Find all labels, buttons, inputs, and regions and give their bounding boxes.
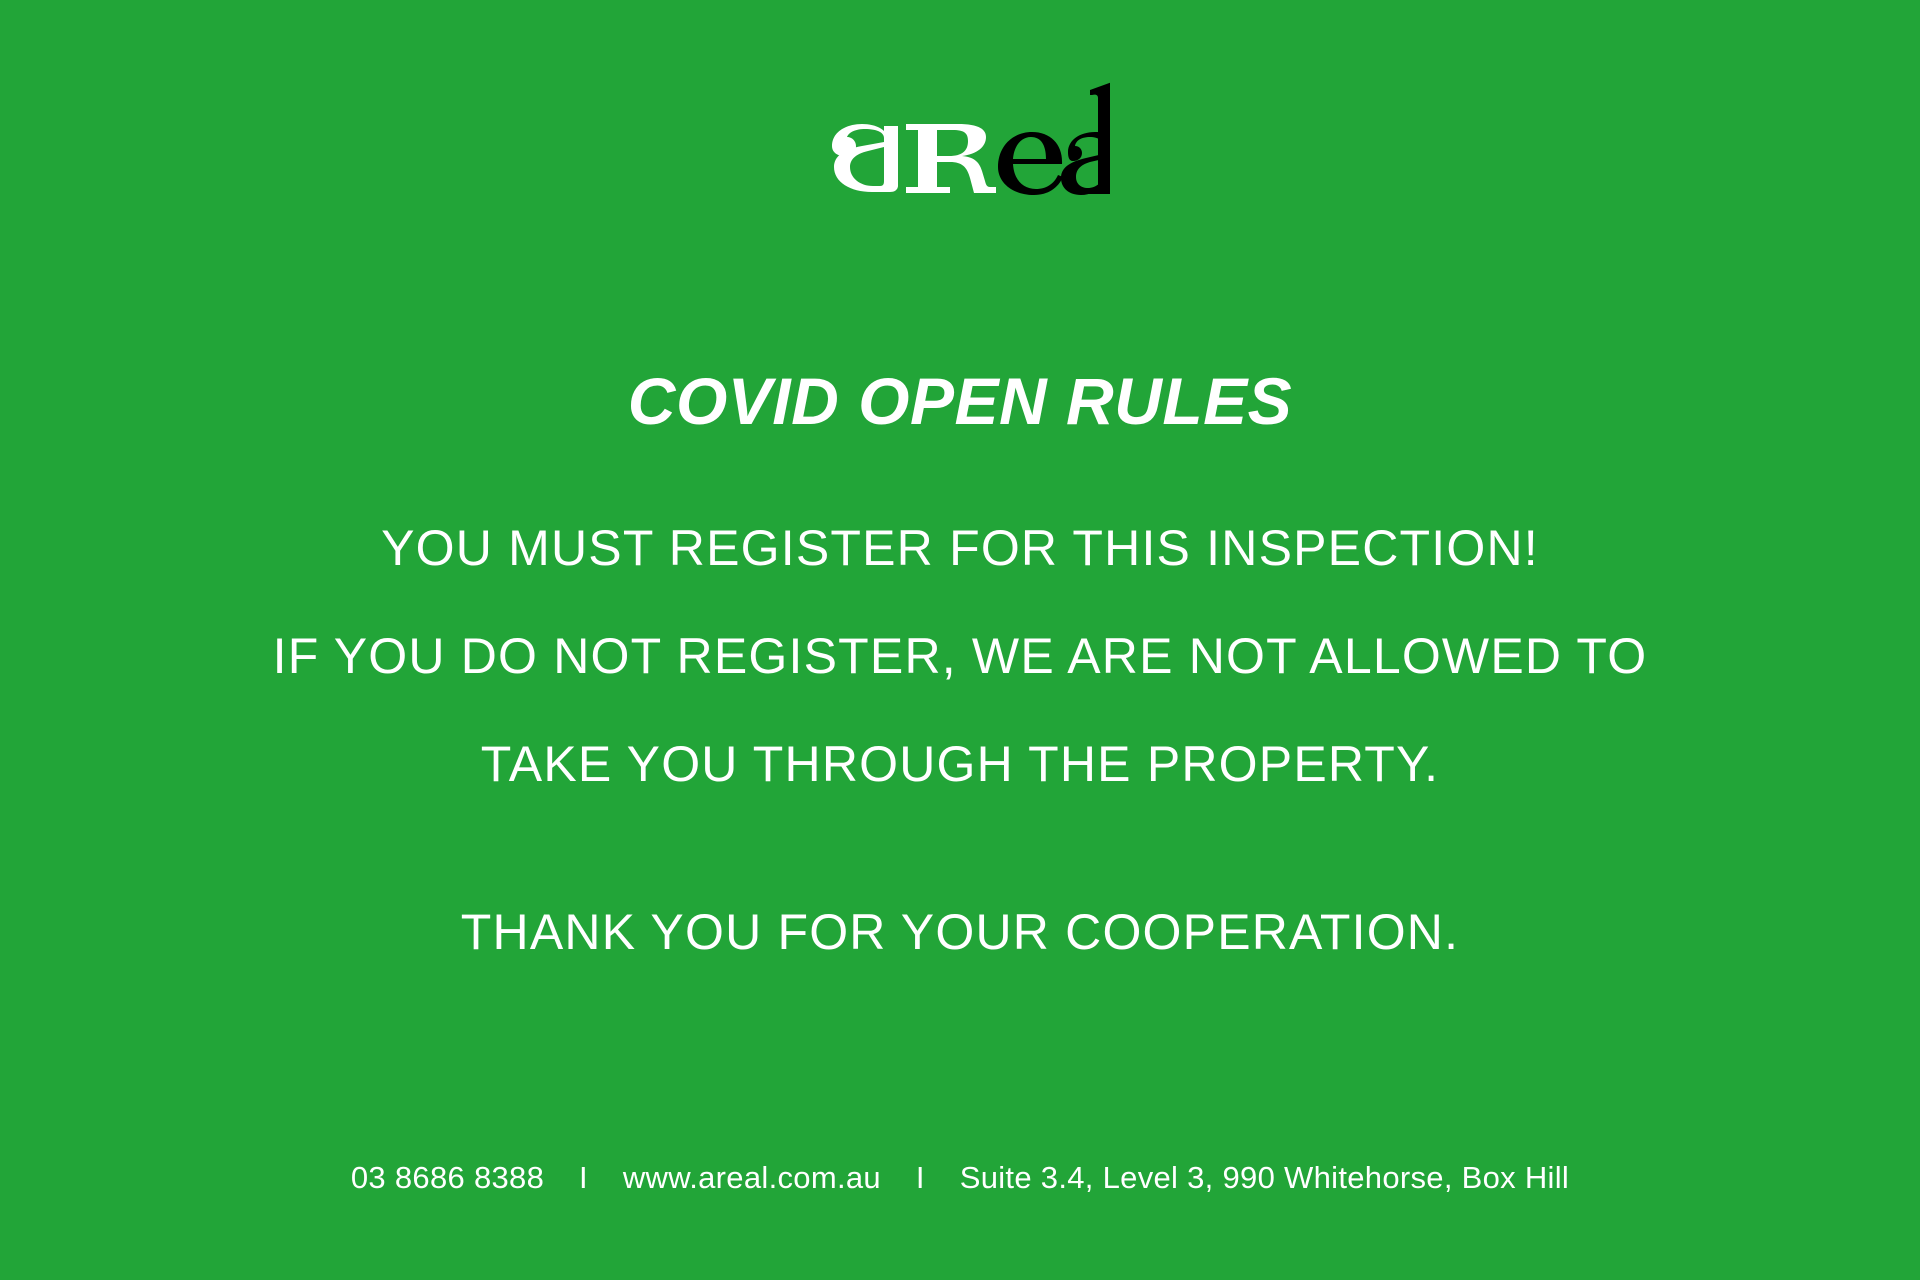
body-spacer <box>0 818 1920 878</box>
footer-separator-2: I <box>890 1160 951 1196</box>
footer-address: Suite 3.4, Level 3, 990 Whitehorse, Box … <box>960 1160 1569 1196</box>
body-line-2: IF YOU DO NOT REGISTER, WE ARE NOT ALLOW… <box>0 602 1920 710</box>
body-closing-line: THANK YOU FOR YOUR COOPERATION. <box>0 878 1920 986</box>
body-copy: YOU MUST REGISTER FOR THIS INSPECTION! I… <box>0 494 1920 986</box>
covid-open-rules-poster: COVID OPEN RULES YOU MUST REGISTER FOR T… <box>0 0 1920 1280</box>
page-title: COVID OPEN RULES <box>0 368 1920 434</box>
footer-separator-1: I <box>553 1160 614 1196</box>
areal-logo <box>810 68 1110 218</box>
areal-logo-icon <box>810 68 1110 218</box>
footer-phone[interactable]: 03 8686 8388 <box>351 1160 544 1196</box>
footer-contact-bar: 03 8686 8388 I www.areal.com.au I Suite … <box>0 1160 1920 1196</box>
logo-block <box>0 68 1920 218</box>
body-line-3: TAKE YOU THROUGH THE PROPERTY. <box>0 710 1920 818</box>
body-line-1: YOU MUST REGISTER FOR THIS INSPECTION! <box>0 494 1920 602</box>
footer-website[interactable]: www.areal.com.au <box>623 1160 881 1196</box>
